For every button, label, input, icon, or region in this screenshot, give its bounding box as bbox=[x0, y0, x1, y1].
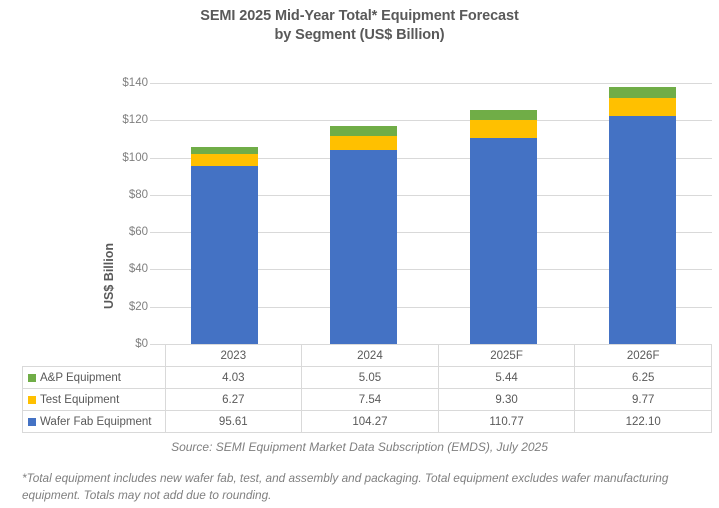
table-cell-value: 5.05 bbox=[302, 367, 439, 389]
bar-column-2024[interactable] bbox=[294, 70, 433, 350]
table-cell-value: 122.10 bbox=[575, 411, 712, 433]
axis-tickmark bbox=[150, 83, 156, 84]
bar-column-2025f[interactable] bbox=[434, 70, 573, 350]
chart-title: SEMI 2025 Mid-Year Total* Equipment Fore… bbox=[0, 7, 719, 45]
footnote-note: *Total equipment includes new wafer fab,… bbox=[22, 470, 700, 504]
bar-segment-a-p-equipment[interactable] bbox=[470, 110, 537, 120]
table-column-header: 2024 bbox=[302, 345, 439, 367]
bar-column-2023[interactable] bbox=[155, 70, 294, 350]
legend-label: Wafer Fab Equipment bbox=[40, 416, 151, 428]
chart-title-line-2: by Segment (US$ Billion) bbox=[0, 26, 719, 45]
table-cell-value: 110.77 bbox=[438, 411, 575, 433]
table-column-header: 2025F bbox=[438, 345, 575, 367]
legend-swatch-icon bbox=[28, 418, 36, 426]
bar-segment-wafer-fab-equipment[interactable] bbox=[330, 150, 397, 344]
chart-title-line-1: SEMI 2025 Mid-Year Total* Equipment Fore… bbox=[0, 7, 719, 26]
axis-tickmark bbox=[150, 195, 156, 196]
table-cell-value: 7.54 bbox=[302, 389, 439, 411]
table-row: A&P Equipment4.035.055.446.25 bbox=[23, 367, 712, 389]
y-axis-tick-labels: $140$120$100$80$60$40$20$0 bbox=[86, 70, 148, 350]
bar-segment-test-equipment[interactable] bbox=[609, 98, 676, 116]
table-cell-value: 9.77 bbox=[575, 389, 712, 411]
y-axis-tick-label: $100 bbox=[86, 152, 148, 164]
table-column-header: 2026F bbox=[575, 345, 712, 367]
bar-segment-test-equipment[interactable] bbox=[330, 136, 397, 150]
stacked-bar[interactable] bbox=[470, 110, 537, 344]
data-table: 202320242025F2026FA&P Equipment4.035.055… bbox=[22, 344, 712, 433]
axis-tickmark bbox=[150, 158, 156, 159]
bar-segment-a-p-equipment[interactable] bbox=[191, 147, 258, 155]
axis-tickmark bbox=[150, 307, 156, 308]
table-cell-value: 5.44 bbox=[438, 367, 575, 389]
y-axis-tick-label: $20 bbox=[86, 301, 148, 313]
bar-series-group bbox=[155, 70, 712, 350]
axis-tickmark bbox=[150, 120, 156, 121]
plot-area: US$ Billion $140$120$100$80$60$40$20$0 bbox=[0, 70, 719, 350]
legend-item-wafer-fab-equipment[interactable]: Wafer Fab Equipment bbox=[23, 411, 166, 433]
legend-swatch-icon bbox=[28, 396, 36, 404]
bar-segment-a-p-equipment[interactable] bbox=[609, 87, 676, 99]
bar-segment-test-equipment[interactable] bbox=[191, 154, 258, 166]
table-cell-value: 104.27 bbox=[302, 411, 439, 433]
bar-column-2026f[interactable] bbox=[573, 70, 712, 350]
table-cell-value: 4.03 bbox=[165, 367, 302, 389]
table-row: Wafer Fab Equipment95.61104.27110.77122.… bbox=[23, 411, 712, 433]
table-corner-cell bbox=[23, 345, 166, 367]
bar-segment-test-equipment[interactable] bbox=[470, 120, 537, 137]
source-note: Source: SEMI Equipment Market Data Subsc… bbox=[0, 440, 719, 454]
stacked-bar[interactable] bbox=[191, 147, 258, 344]
bar-segment-a-p-equipment[interactable] bbox=[330, 126, 397, 135]
table-row: Test Equipment6.277.549.309.77 bbox=[23, 389, 712, 411]
y-axis-tick-label: $40 bbox=[86, 263, 148, 275]
table-cell-value: 95.61 bbox=[165, 411, 302, 433]
stacked-bar[interactable] bbox=[330, 126, 397, 344]
table-cell-value: 6.27 bbox=[165, 389, 302, 411]
stacked-bar[interactable] bbox=[609, 87, 676, 344]
legend-item-a-p-equipment[interactable]: A&P Equipment bbox=[23, 367, 166, 389]
bar-segment-wafer-fab-equipment[interactable] bbox=[470, 138, 537, 345]
axis-tickmark bbox=[150, 232, 156, 233]
table-column-header: 2023 bbox=[165, 345, 302, 367]
legend-label: A&P Equipment bbox=[40, 372, 121, 384]
axis-tickmark bbox=[150, 269, 156, 270]
y-axis-tick-label: $60 bbox=[86, 226, 148, 238]
table-header-row: 202320242025F2026F bbox=[23, 345, 712, 367]
y-axis-tick-label: $80 bbox=[86, 189, 148, 201]
y-axis-tick-label: $120 bbox=[86, 114, 148, 126]
bar-segment-wafer-fab-equipment[interactable] bbox=[191, 166, 258, 344]
legend-item-test-equipment[interactable]: Test Equipment bbox=[23, 389, 166, 411]
table-cell-value: 6.25 bbox=[575, 367, 712, 389]
y-axis-tick-label: $140 bbox=[86, 77, 148, 89]
table-cell-value: 9.30 bbox=[438, 389, 575, 411]
bar-segment-wafer-fab-equipment[interactable] bbox=[609, 116, 676, 344]
legend-swatch-icon bbox=[28, 374, 36, 382]
legend-label: Test Equipment bbox=[40, 394, 119, 406]
